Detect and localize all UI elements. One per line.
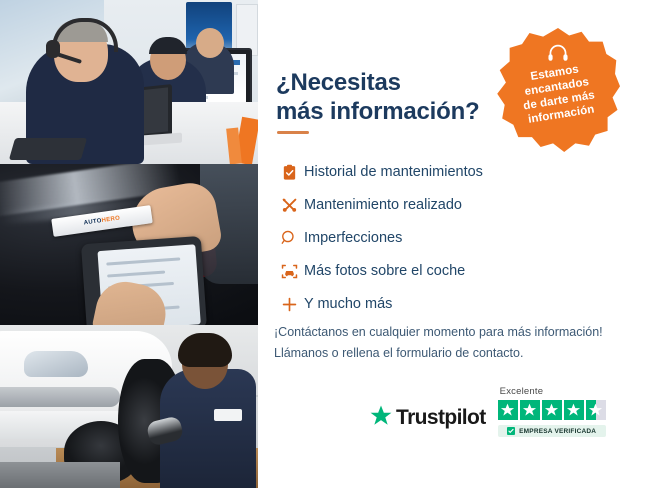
photo-call-center [0,0,258,164]
heading-underline-rule [277,131,309,134]
photo-bodywork-inspection: AUTOHERO [0,164,258,325]
plus-icon [274,293,304,315]
star-filled [498,400,518,420]
star-filled [542,400,562,420]
person-background-head [196,28,224,58]
feature-item-historial: Historial de mantenimientos [274,156,564,188]
feature-label: Mantenimiento realizado [304,197,462,213]
trustpilot-wordmark: Trustpilot [396,406,486,430]
promo-starburst-badge: Estamos encantados de darte más informac… [496,28,620,152]
tablet-row [106,257,180,265]
trustpilot-logo[interactable]: Trustpilot [370,405,486,437]
contact-info-banner: AUTOHERO [0,0,650,488]
contact-line-2: Llámanos o rellena el formulario de cont… [274,343,634,364]
rating-label: Excelente [500,386,544,397]
star-rating [498,400,606,420]
feature-item-imperfecciones: Imperfecciones [274,222,564,254]
contact-copy: ¡Contáctanos en cualquier momento para m… [274,322,634,363]
headset-icon [547,44,569,62]
car-headlight [24,351,88,377]
feature-label: Imperfecciones [304,230,402,246]
clipboard-check-icon [274,161,304,183]
feature-label: Más fotos sobre el coche [304,263,465,279]
page-title: ¿Necesitas más información? [276,68,516,127]
heading-line-2: más información? [276,98,480,125]
technician-uniform-badge [214,409,242,421]
heading-line-1: ¿Necesitas [276,69,401,96]
feature-label: Y mucho más [304,296,392,312]
trustpilot-score: Excelente [498,386,606,437]
content-panel: ¿Necesitas más información? Estamos enca… [258,0,650,488]
photo-column: AUTOHERO [0,0,258,488]
ruler-brand-text: AUTOHERO [83,215,120,226]
check-icon [507,427,515,435]
desk-tablet [9,138,87,160]
contact-line-1: ¡Contáctanos en cualquier momento para m… [274,322,634,343]
feature-list: Historial de mantenimientos Mantenimient… [274,156,564,321]
feature-item-mantenimiento: Mantenimiento realizado [274,189,564,221]
verified-company-badge: EMPRESA VERIFICADA [498,425,606,437]
tools-icon [274,194,304,216]
car-scan-icon [274,260,304,282]
photo-wheel-inspection [0,325,258,488]
tablet-row [107,270,165,277]
feature-item-mas: Y mucho más [274,288,564,320]
verified-label: EMPRESA VERIFICADA [519,428,596,435]
feature-item-fotos: Más fotos sobre el coche [274,255,564,287]
star-filled [564,400,584,420]
star-filled [520,400,540,420]
technician-hair [178,333,232,367]
star-partial [586,400,606,420]
feature-label: Historial de mantenimientos [304,164,483,180]
car-grille [0,387,120,407]
trustpilot-star-icon [370,405,392,431]
magnifier-icon [274,227,304,249]
vehicle-lift-platform [0,462,120,488]
trustpilot-rating-block[interactable]: Trustpilot Excelente [370,386,606,437]
